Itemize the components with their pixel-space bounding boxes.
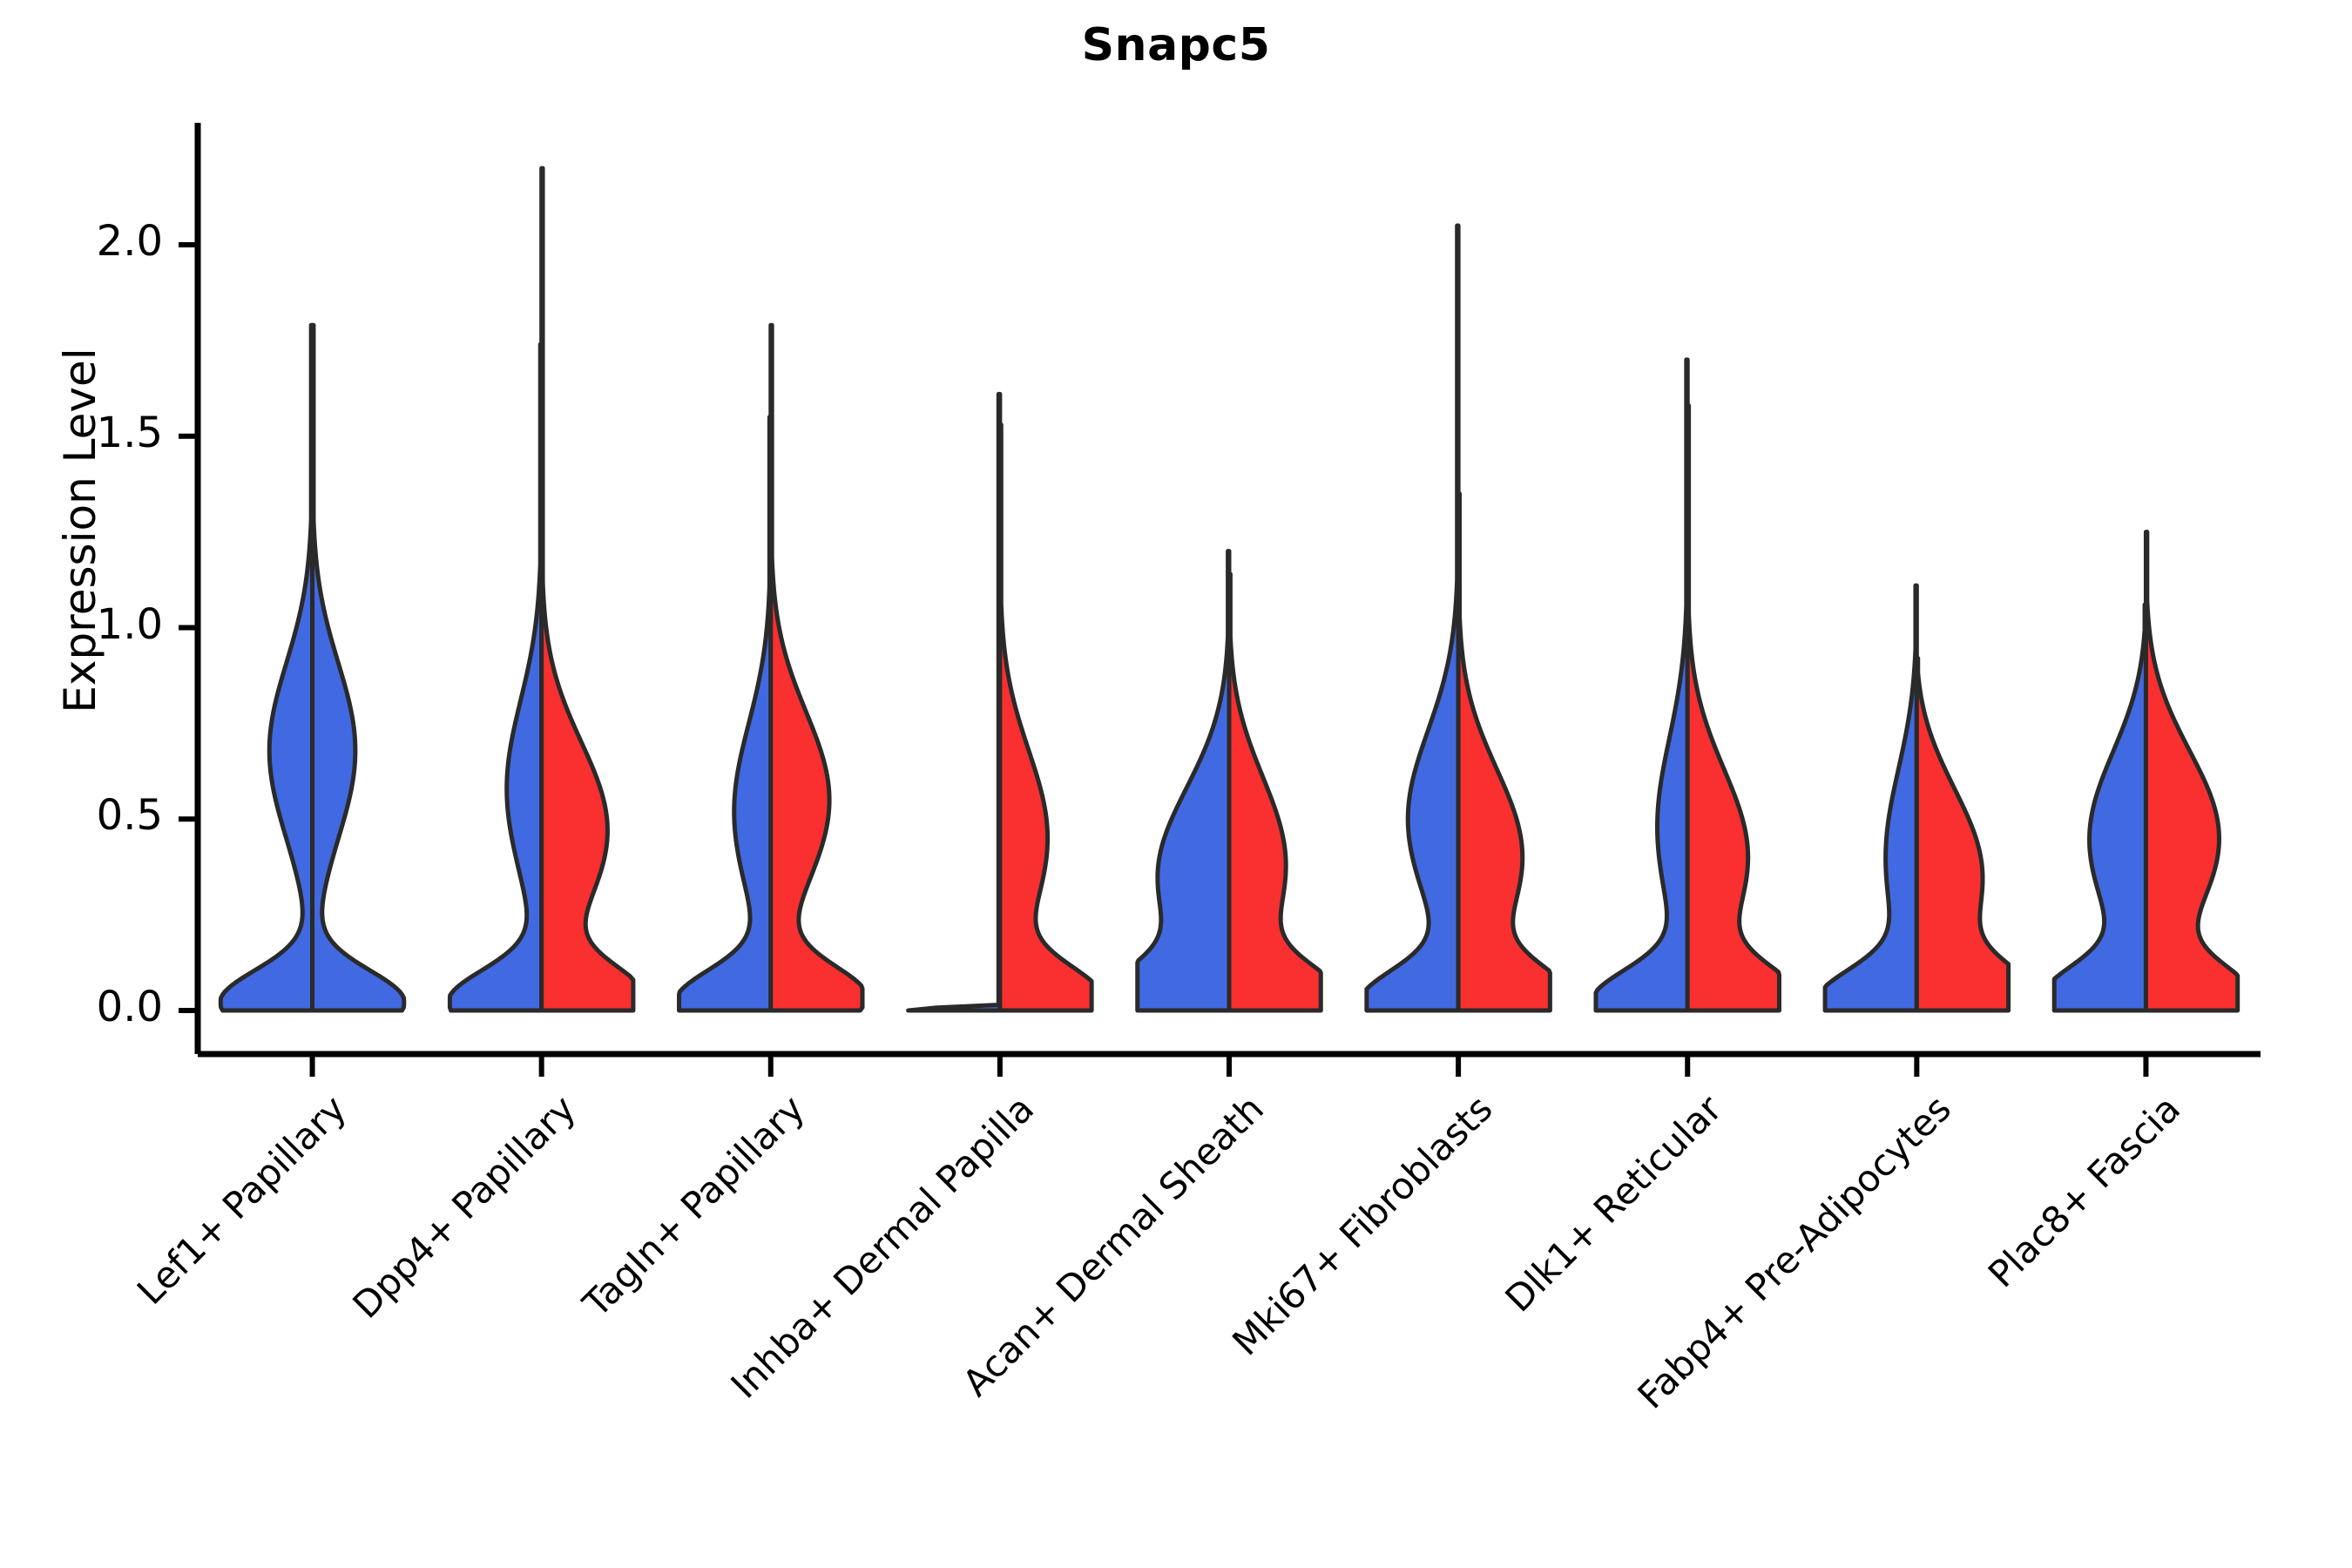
violin-half-b-7[interactable] [1916,659,2008,1010]
violin-half-a-4[interactable] [1138,551,1229,1010]
violin-half-b-6[interactable] [1687,406,1779,1010]
violin-half-a-3[interactable] [909,394,1000,1010]
violin-half-b-8[interactable] [2146,532,2237,1010]
violin-half-a-1[interactable] [449,344,541,1010]
y-tick-label-1: 0.5 [15,791,163,840]
violin-half-a-mirror-0[interactable] [313,325,404,1010]
violin-half-b-5[interactable] [1458,494,1550,1010]
violin-half-a-6[interactable] [1596,360,1687,1010]
plot-canvas [0,0,2352,1568]
violin-half-a-7[interactable] [1825,585,1916,1010]
violins-layer [220,168,2237,1010]
violin-half-b-2[interactable] [771,325,862,1010]
violin-half-a-8[interactable] [2054,605,2146,1010]
violin-half-a-2[interactable] [679,417,771,1010]
y-tick-label-4: 2.0 [15,217,163,266]
violin-half-b-4[interactable] [1229,574,1321,1010]
y-tick-label-3: 1.5 [15,409,163,457]
y-tick-label-2: 1.0 [15,600,163,649]
violin-half-b-1[interactable] [542,168,633,1010]
violin-half-a-5[interactable] [1367,226,1458,1010]
y-tick-label-0: 0.0 [15,983,163,1031]
violin-half-a-0[interactable] [220,325,312,1010]
violin-half-b-3[interactable] [1000,425,1092,1010]
violin-plot-figure: Snapc5 Expression Level 0.00.51.01.52.0 … [0,0,2352,1568]
